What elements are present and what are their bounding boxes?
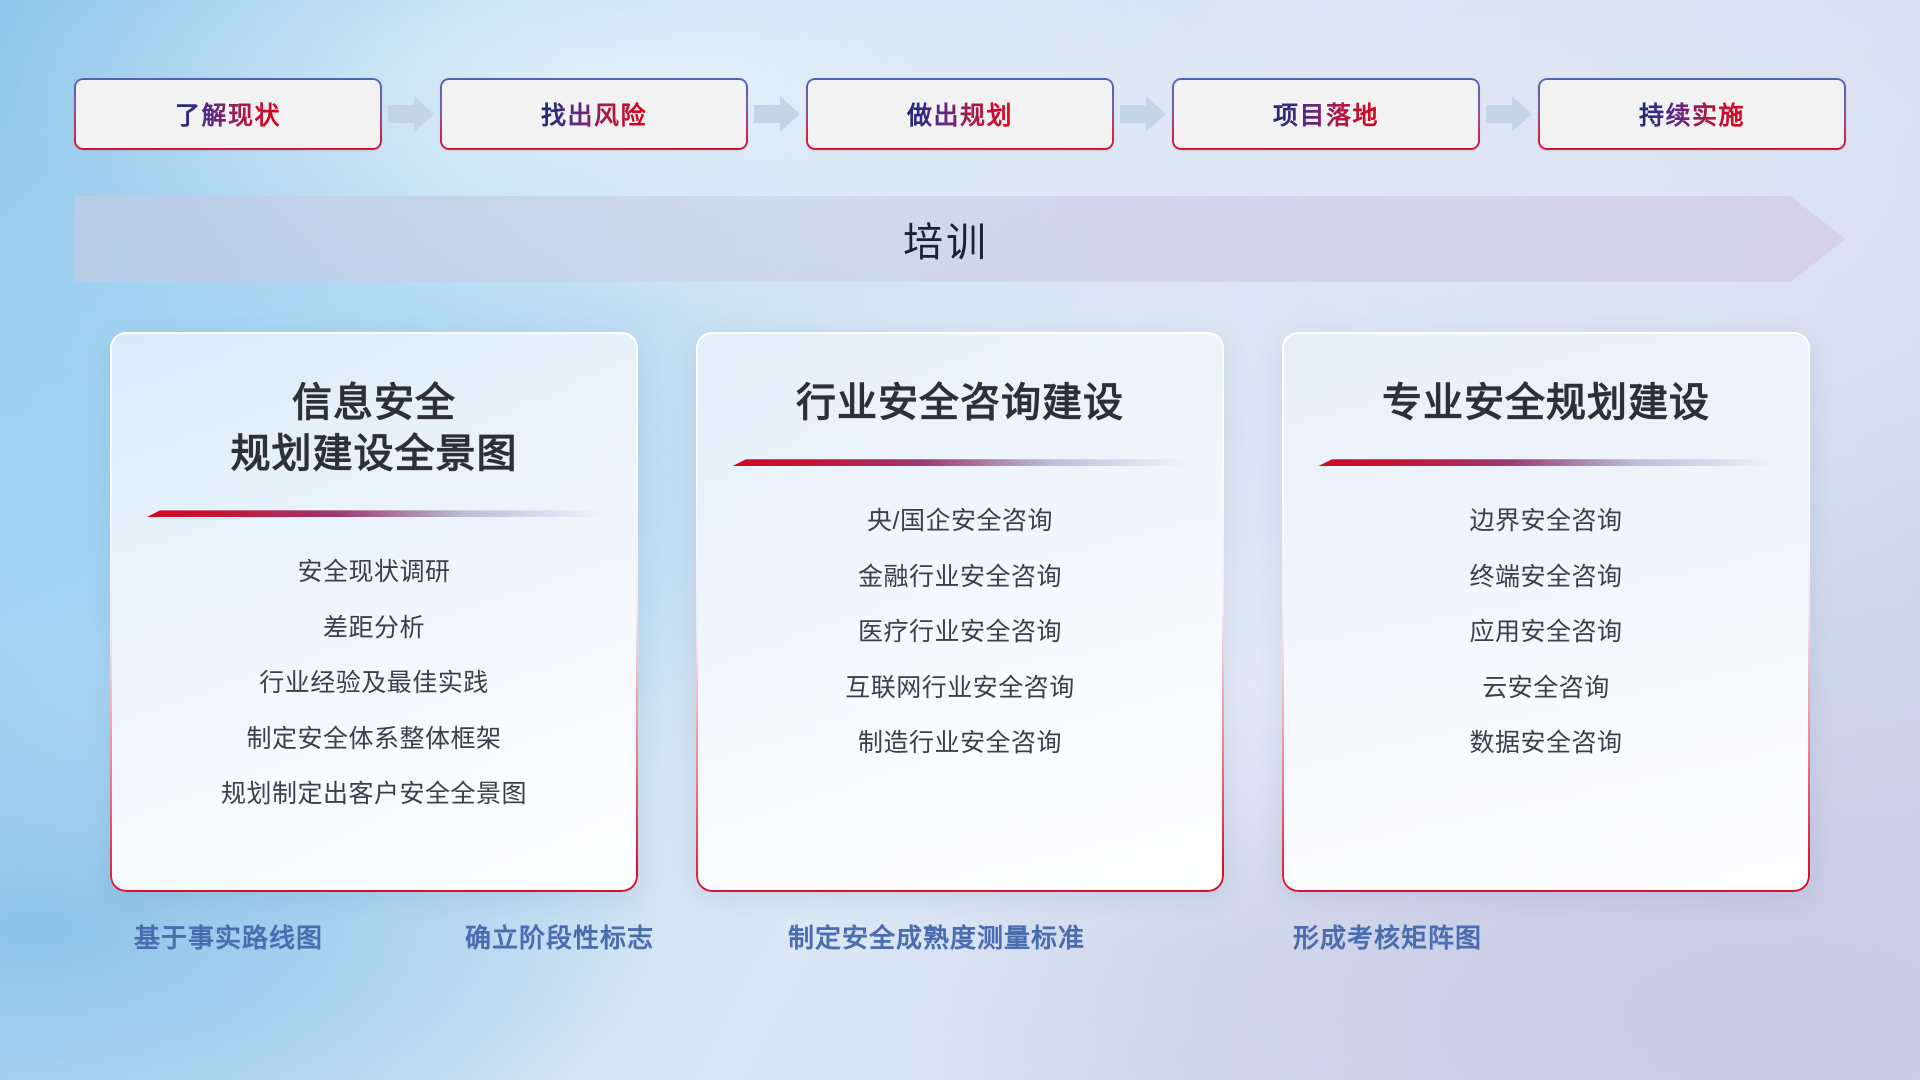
footer-caption-row: 基于事实路线图 确立阶段性标志 制定安全成熟度测量标准 形成考核矩阵图 [0,918,1920,970]
step-label-3: 做出规划 [907,96,1013,132]
list-item: 央/国企安全咨询 [867,498,1053,546]
list-item: 制定安全体系整体框架 [246,716,501,764]
list-item: 金融行业安全咨询 [858,554,1062,602]
step-box-5[interactable]: 持续实施 [1538,78,1846,150]
list-item: 差距分析 [323,605,425,653]
step-box-2[interactable]: 找出风险 [440,78,748,150]
step-label-4: 项目落地 [1273,96,1379,132]
list-item: 规划制定出客户安全全景图 [221,771,527,819]
step-label-5: 持续实施 [1639,96,1745,132]
list-item: 制造行业安全咨询 [858,720,1062,768]
card-title-1: 信息安全 规划建设全景图 [231,378,518,480]
step-box-1[interactable]: 了解现状 [74,78,382,150]
step-arrow-icon-3 [1114,94,1172,134]
card-1[interactable]: 信息安全 规划建设全景图 安全现状调研 差距分析 行业经验及最佳实践 制定安全体… [110,332,638,892]
list-item: 边界安全咨询 [1469,498,1622,546]
list-item: 行业经验及最佳实践 [259,660,489,708]
footer-label-1: 基于事实路线图 [134,918,323,955]
card-title-2: 行业安全咨询建设 [796,378,1124,429]
card-3[interactable]: 专业安全规划建设 边界安全咨询 终端安全咨询 应用安全咨询 云安全咨询 数据安全… [1282,332,1810,892]
card-divider-2 [732,459,1188,466]
step-arrow-icon-2 [748,94,806,134]
step-box-4[interactable]: 项目落地 [1172,78,1480,150]
step-label-2: 找出风险 [541,96,647,132]
banner-title: 培训 [74,196,1846,282]
card-divider-3 [1318,459,1774,466]
card-2[interactable]: 行业安全咨询建设 央/国企安全咨询 金融行业安全咨询 医疗行业安全咨询 互联网行… [696,332,1224,892]
list-item: 安全现状调研 [297,549,450,597]
step-arrow-icon-1 [382,94,440,134]
card-list-1: 安全现状调研 差距分析 行业经验及最佳实践 制定安全体系整体框架 规划制定出客户… [221,549,527,819]
process-step-strip: 了解现状 找出风险 做出规划 项目落地 [74,78,1846,150]
step-box-3[interactable]: 做出规划 [806,78,1114,150]
list-item: 终端安全咨询 [1469,554,1622,602]
footer-label-3: 制定安全成熟度测量标准 [788,918,1085,955]
list-item: 数据安全咨询 [1469,720,1622,768]
list-item: 互联网行业安全咨询 [845,665,1075,713]
list-item: 云安全咨询 [1482,665,1610,713]
footer-label-2: 确立阶段性标志 [465,918,654,955]
slide-canvas: 了解现状 找出风险 做出规划 项目落地 [0,0,1920,1080]
list-item: 应用安全咨询 [1469,609,1622,657]
step-arrow-icon-4 [1480,94,1538,134]
step-label-1: 了解现状 [175,96,281,132]
training-banner: 培训 [74,196,1846,282]
card-list-2: 央/国企安全咨询 金融行业安全咨询 医疗行业安全咨询 互联网行业安全咨询 制造行… [845,498,1075,768]
footer-label-4: 形成考核矩阵图 [1293,918,1482,955]
card-row: 信息安全 规划建设全景图 安全现状调研 差距分析 行业经验及最佳实践 制定安全体… [110,332,1810,892]
list-item: 医疗行业安全咨询 [858,609,1062,657]
card-title-3: 专业安全规划建设 [1382,378,1710,429]
card-list-3: 边界安全咨询 终端安全咨询 应用安全咨询 云安全咨询 数据安全咨询 [1469,498,1622,768]
card-divider-1 [146,510,602,517]
